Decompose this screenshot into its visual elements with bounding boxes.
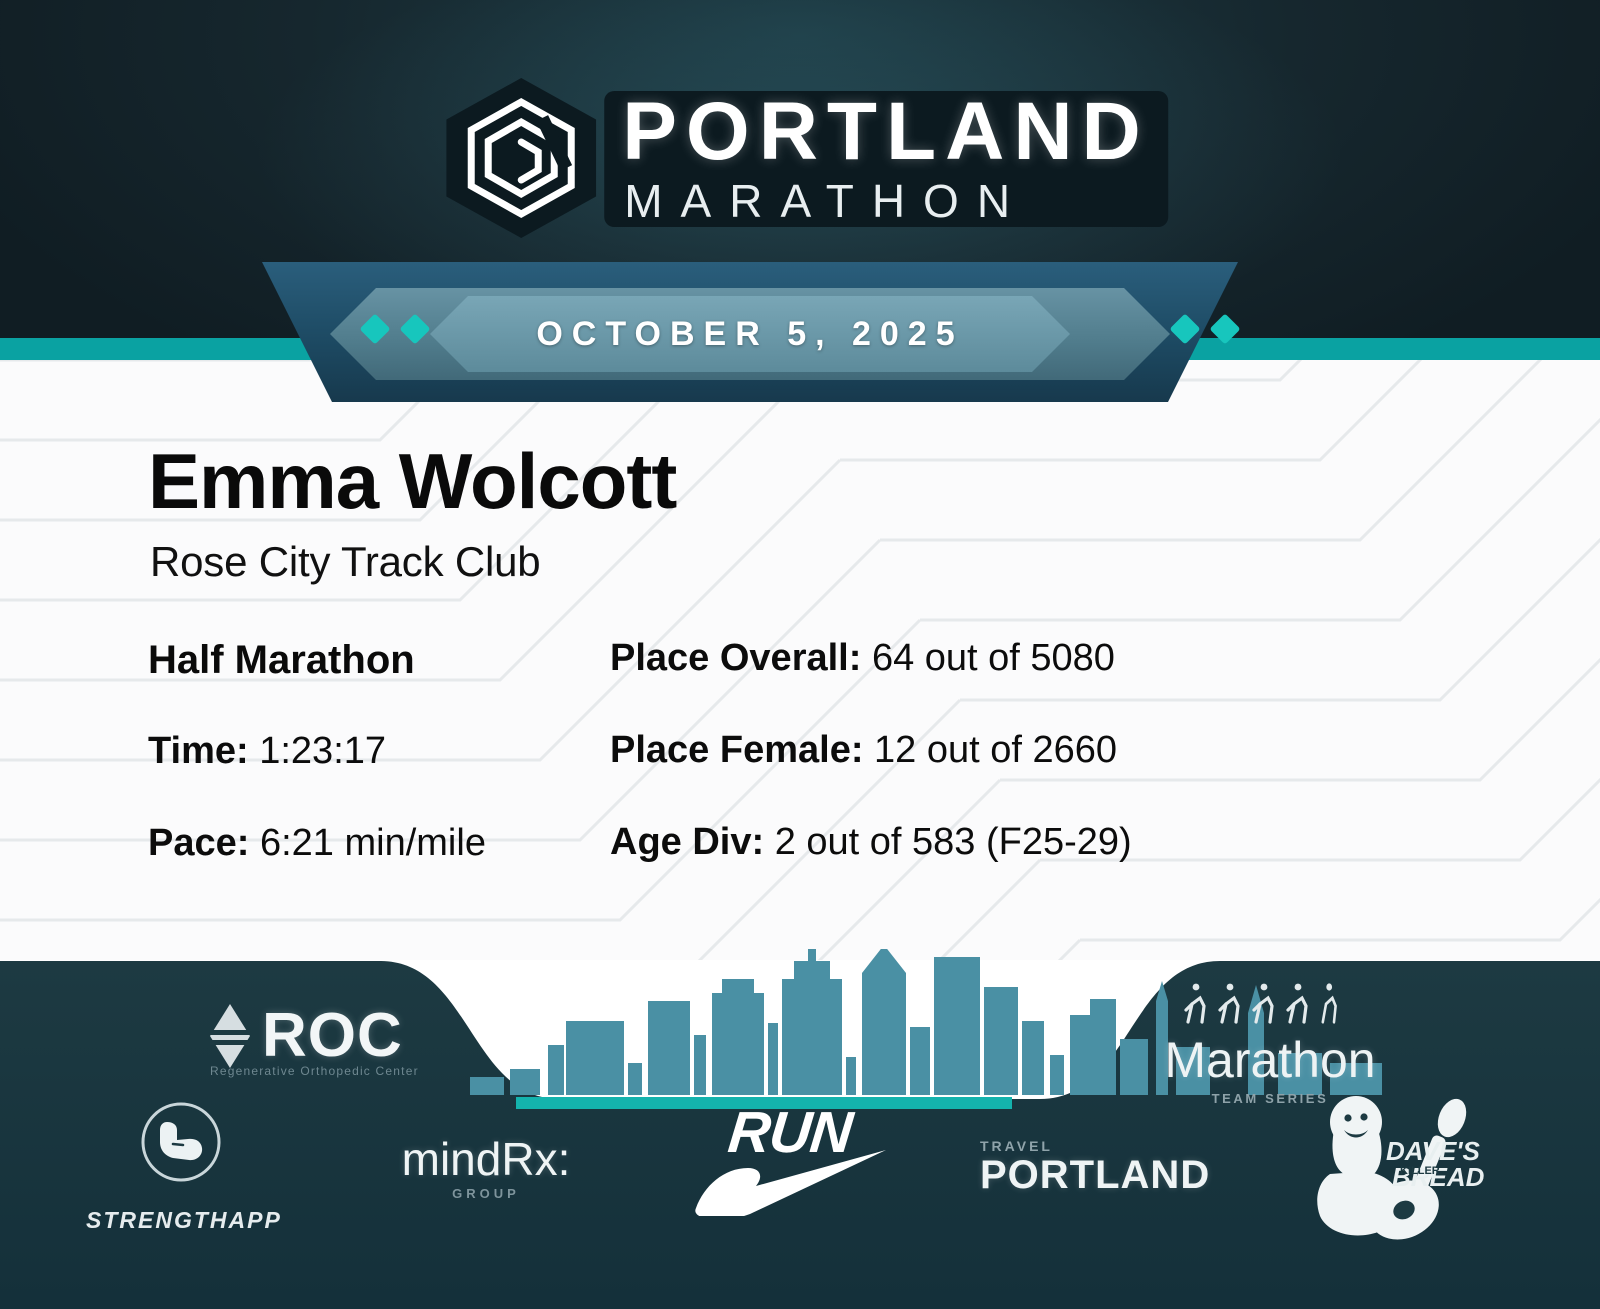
stat-time-value: 1:23:17 [259,730,386,772]
stat-place-female-label: Place Female: [610,729,863,771]
results-content: Emma Wolcott Rose City Track Club Half M… [0,360,1600,915]
sponsor-mindrx-sub: GROUP [376,1186,596,1201]
sponsor-travel-portland-sub: TRAVEL [980,1138,1200,1154]
sponsor-mindrx-name: mindRx: [376,1136,596,1182]
stat-place-overall: Place Overall: 64 out of 5080 [610,638,1420,680]
bicep-icon [133,1098,229,1194]
results-column-left: Half Marathon Time: 1:23:17 Pace: 6:21 m… [0,638,560,915]
stat-place-female-value: 12 out of 2660 [874,729,1117,771]
stat-pace: Pace: 6:21 min/mile [148,823,560,865]
stat-age-div-label: Age Div: [610,821,764,863]
results-grid: Half Marathon Time: 1:23:17 Pace: 6:21 m… [0,638,1600,915]
runners-icon [1180,980,1360,1026]
stat-pace-label: Pace: [148,822,249,864]
stat-pace-value: 6:21 min/mile [260,822,486,864]
results-column-right: Place Overall: 64 out of 5080 Place Fema… [560,638,1420,915]
runner-name: Emma Wolcott [148,442,1600,520]
event-logo: PORTLAND MARATHON [446,78,1154,238]
brand-marathon: MARATHON [618,173,1154,231]
stat-place-female: Place Female: 12 out of 2660 [610,730,1420,772]
banner-inner-panel: OCTOBER 5, 2025 [430,296,1070,372]
sponsor-strengthapp-name: STRENGTHAPP [86,1207,276,1234]
diamond-icon [208,1002,252,1070]
sponsor-daves-killer-bread[interactable]: DAVE'S BREAD KILLER [1300,1082,1490,1252]
stat-place-overall-label: Place Overall: [610,637,861,679]
sponsor-mindrx[interactable]: mindRx: GROUP [376,1136,596,1201]
svg-text:KILLER: KILLER [1400,1165,1440,1177]
runner-team: Rose City Track Club [150,538,1600,586]
banner-diamonds-right [1174,318,1236,340]
sponsor-roc[interactable]: ROC [208,1000,403,1071]
diamond-icon [1169,313,1200,344]
sponsor-nike-run[interactable]: RUN [690,1104,890,1221]
stat-time-label: Time: [148,730,249,772]
diamond-icon [399,313,430,344]
sponsor-roc-name: ROC [262,1000,403,1071]
diamond-icon [1209,313,1240,344]
race-results-certificate: PORTLAND MARATHON OCTOBER 5, 2025 [0,0,1600,1309]
sponsor-roc-tagline: Regenerative Orthopedic Center [210,1064,419,1078]
event-wordmark: PORTLAND MARATHON [618,85,1154,231]
date-banner: OCTOBER 5, 2025 [0,262,1600,402]
sponsor-travel-portland[interactable]: TRAVEL PORTLAND [980,1138,1200,1196]
sponsor-strengthapp[interactable]: STRENGTHAPP [86,1098,276,1234]
banner-diamonds-left [364,318,426,340]
brand-portland: PORTLAND [618,85,1154,173]
skyline-teal-bar [516,1097,1012,1109]
sponsor-run-name: RUN [687,1104,893,1162]
stat-time: Time: 1:23:17 [148,731,560,773]
stat-place-overall-value: 64 out of 5080 [872,637,1115,679]
guitarist-mascot-icon: DAVE'S BREAD KILLER [1300,1082,1490,1252]
hexagon-spiral-icon [446,78,596,238]
sponsor-marathon-name: Marathon [1160,1035,1380,1085]
event-date: OCTOBER 5, 2025 [536,315,963,354]
event-distance: Half Marathon [148,638,560,683]
diamond-icon [359,313,390,344]
stat-age-div: Age Div: 2 out of 583 (F25-29) [610,822,1420,864]
sponsor-travel-portland-name: PORTLAND [980,1154,1200,1196]
stat-age-div-value: 2 out of 583 (F25-29) [775,821,1132,863]
